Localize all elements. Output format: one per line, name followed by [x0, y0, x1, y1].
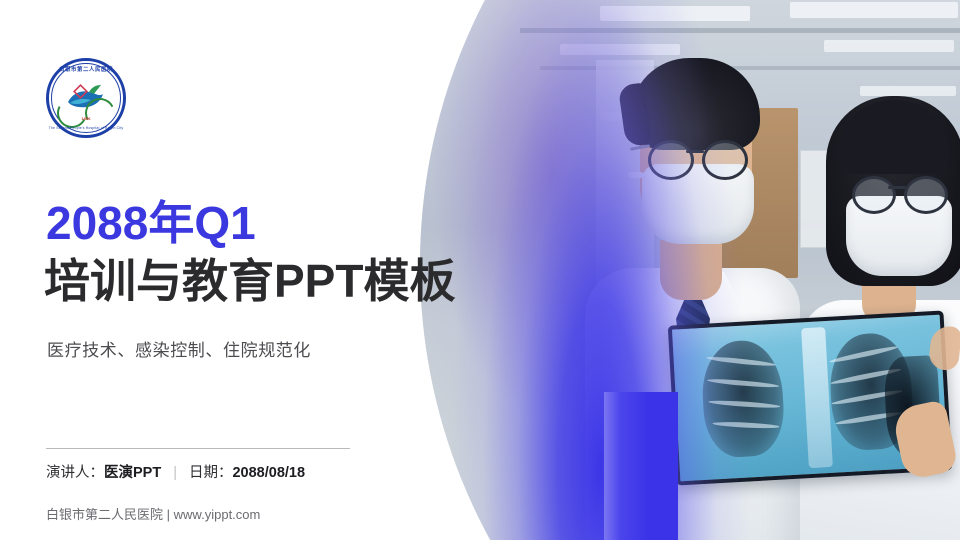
meta-separator: |	[161, 465, 189, 481]
footer-organization: 白银市第二人民医院	[46, 507, 163, 522]
presenter-date-line: 演讲人：医演PPT|日期：2088/08/18	[46, 461, 305, 482]
speaker-name: 医演PPT	[104, 465, 161, 481]
eyeglasses-lens	[904, 176, 948, 214]
meta-divider	[46, 448, 350, 449]
date-label: 日期：	[189, 465, 233, 481]
date-value: 2088/08/18	[232, 465, 305, 481]
eyeglasses-bridge	[686, 150, 704, 153]
eyeglasses-bridge	[888, 186, 906, 189]
footer-separator: |	[167, 507, 170, 522]
footer-line: 白银市第二人民医院 | www.yippt.com	[46, 504, 260, 523]
ceiling-light	[560, 44, 680, 55]
ceiling-light	[860, 86, 956, 96]
eyeglasses-lens	[702, 140, 748, 180]
page-title-line2: 培训与教育PPT模板	[44, 258, 455, 304]
ceiling-rail	[520, 28, 960, 33]
ceiling-light	[824, 40, 954, 52]
xray-spine	[801, 327, 833, 468]
speaker-label: 演讲人：	[46, 465, 104, 481]
doctor-male-neck	[660, 240, 722, 300]
logo-chinese-text: 白银市第二人民医院	[46, 65, 126, 73]
eyeglasses-lens	[648, 140, 694, 180]
page-subtitle: 医疗技术、感染控制、住院规范化	[47, 336, 311, 361]
page-title-line1: 2088年Q1	[46, 200, 256, 246]
logo-founding-year: 1956	[46, 116, 126, 121]
ceiling-light	[600, 6, 750, 21]
footer-website: www.yippt.com	[174, 507, 261, 522]
ceiling-light	[790, 2, 958, 18]
eyeglasses-lens	[852, 176, 896, 214]
presentation-slide: 白银市第二人民医院 1956 The Second People's Hospi…	[0, 0, 960, 540]
logo-english-text: The Second People's Hospital of Baiyin C…	[46, 126, 126, 130]
mask-strap	[628, 172, 644, 178]
title-content-panel: 白银市第二人民医院 1956 The Second People's Hospi…	[0, 0, 420, 540]
hospital-logo: 白银市第二人民医院 1956 The Second People's Hospi…	[46, 58, 126, 138]
